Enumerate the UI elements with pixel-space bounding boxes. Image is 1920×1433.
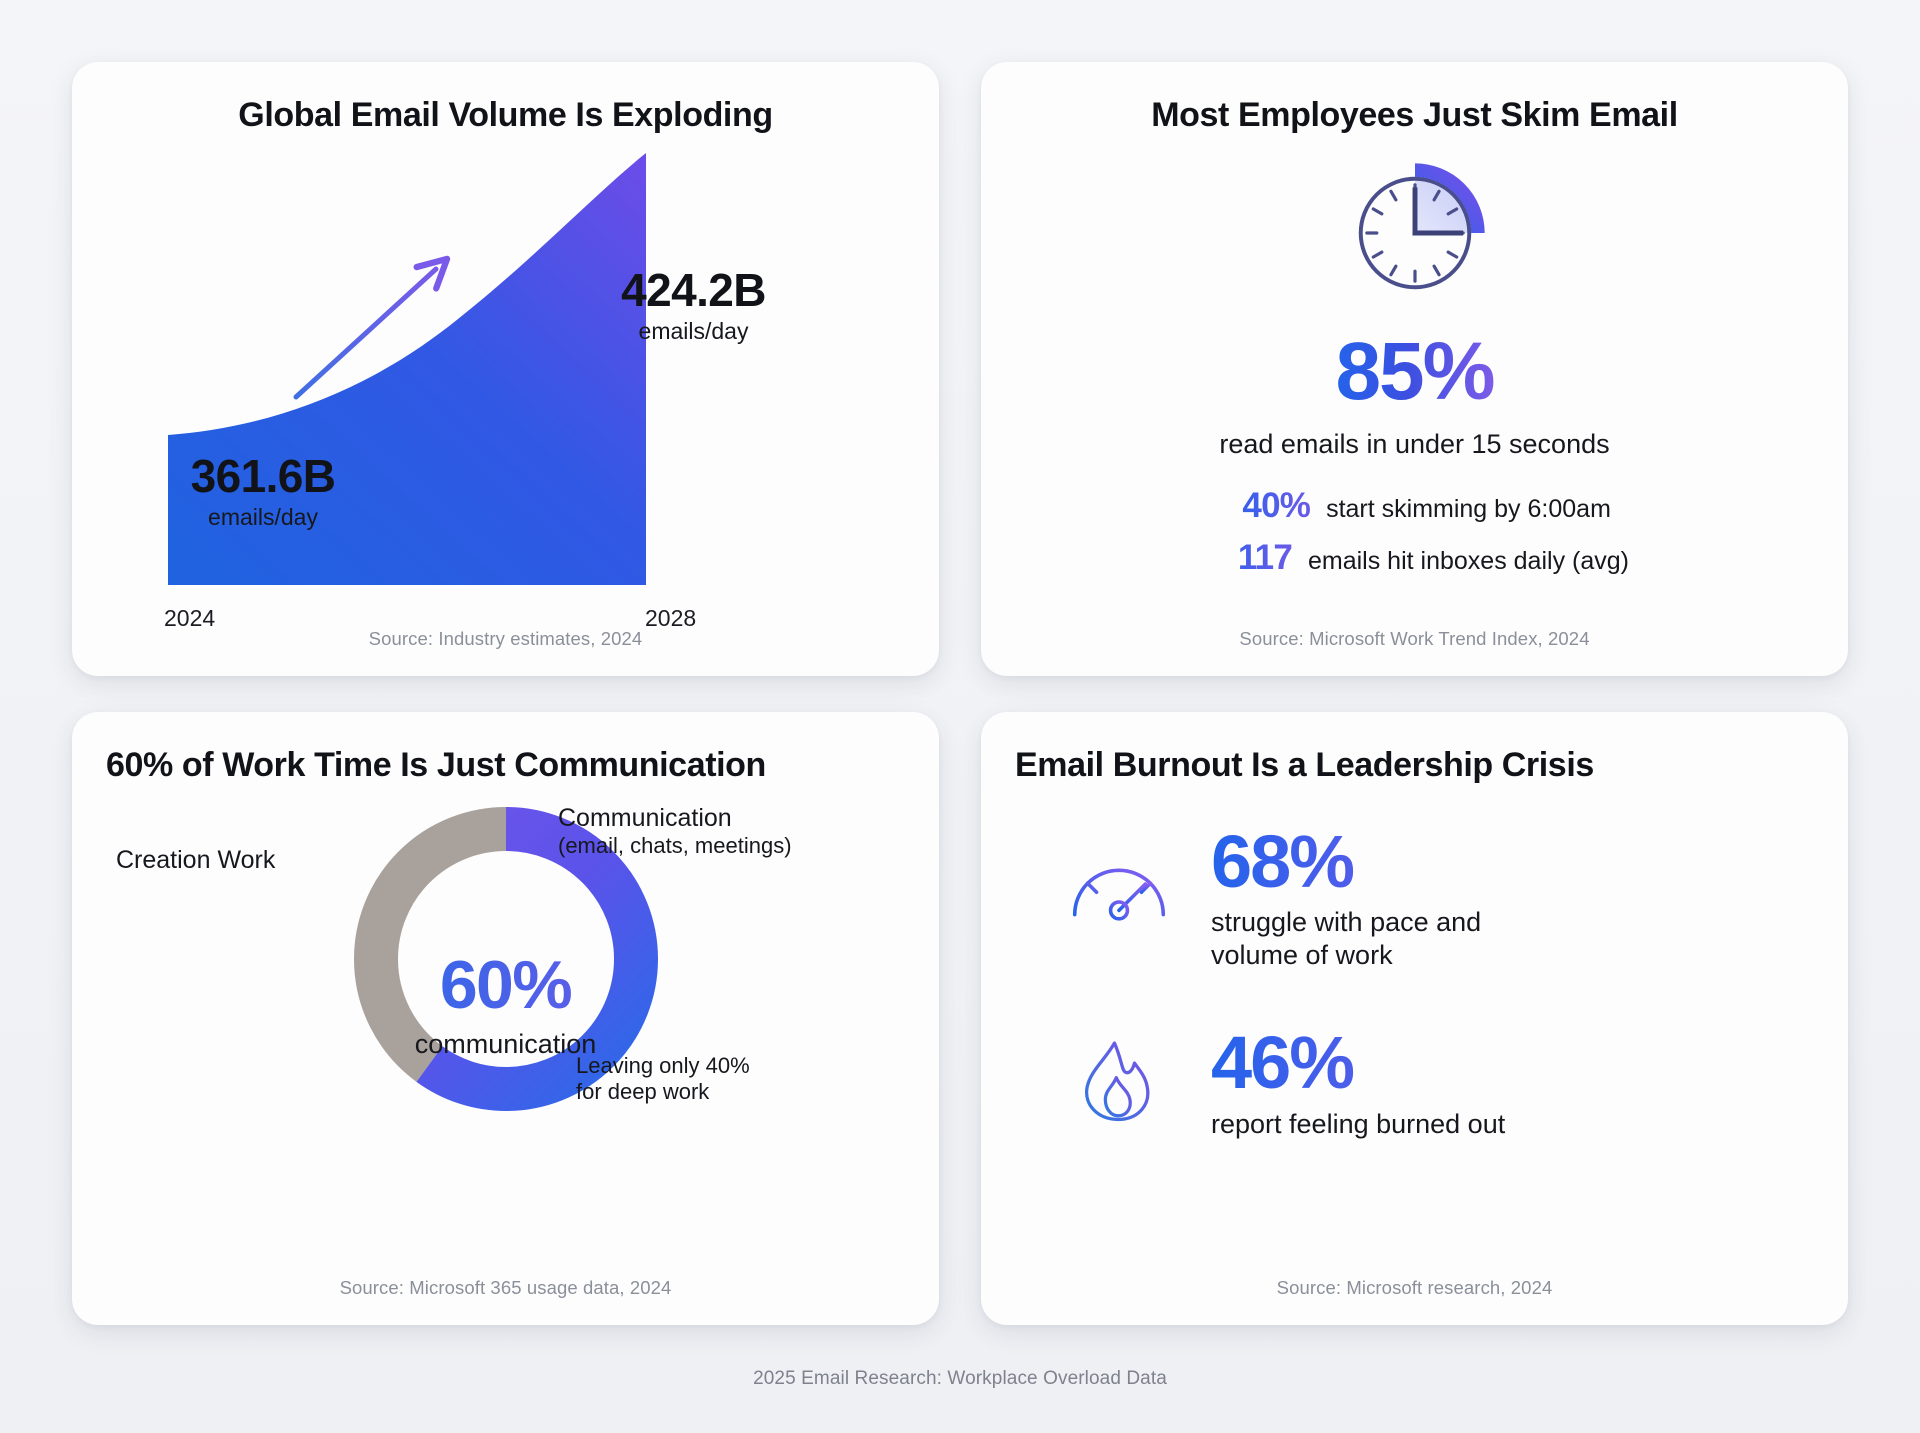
stat-caption-line1: report feeling burned out	[1211, 1109, 1505, 1139]
page-title: Most Employees Just Skim Email	[1015, 96, 1814, 135]
gauge-icon	[1061, 833, 1177, 933]
list-item: 46% report feeling burned out	[1015, 1028, 1814, 1140]
legend-creation-work: Creation Work	[116, 845, 275, 876]
end-value: 424.2B	[621, 264, 766, 316]
stat-value: 46%	[1211, 1028, 1505, 1098]
card-email-burnout: Email Burnout Is a Leadership Crisis	[981, 712, 1848, 1326]
donut-chart-body: 60% communication Creation Work Communic…	[106, 785, 905, 1277]
stat-value: 68%	[1211, 827, 1481, 897]
stat-caption-line2: volume of work	[1211, 940, 1393, 970]
flame-icon	[1061, 1034, 1177, 1134]
annotation-deep-work-line2: for deep work	[576, 1079, 709, 1104]
stat-caption-line1: struggle with pace and	[1211, 907, 1481, 937]
stat-caption: struggle with pace and volume of work	[1211, 906, 1481, 972]
donut-center-label: 60% communication	[356, 951, 656, 1060]
start-value-label: 361.6B emails/day	[158, 453, 368, 529]
skim-stats-body: 85% read emails in under 15 seconds 40% …	[1015, 135, 1814, 627]
axis-tick-2024: 2024	[164, 605, 215, 632]
card-source: Source: Microsoft research, 2024	[1015, 1277, 1814, 1307]
card-source: Source: Industry estimates, 2024	[106, 628, 905, 658]
headline-percent: 85%	[1335, 331, 1493, 413]
end-value-label: 424.2B emails/day	[576, 267, 811, 343]
axis-tick-2028: 2028	[645, 605, 696, 632]
clock-icon	[1341, 159, 1489, 307]
card-grid: Global Email Volume Is Exploding	[72, 62, 1848, 1325]
annotation-deep-work: Leaving only 40% for deep work	[576, 1053, 750, 1107]
infographic-page: Global Email Volume Is Exploding	[0, 0, 1920, 1433]
card-communication-time: 60% of Work Time Is Just Communication	[72, 712, 939, 1326]
page-title: Email Burnout Is a Leadership Crisis	[1015, 746, 1814, 785]
stat-caption: report feeling burned out	[1211, 1108, 1505, 1141]
card-skim-email: Most Employees Just Skim Email	[981, 62, 1848, 676]
list-item: 40% start skimming by 6:00am	[1015, 486, 1814, 526]
start-value: 361.6B	[191, 450, 336, 502]
stat-text: emails hit inboxes daily (avg)	[1308, 547, 1629, 576]
card-source: Source: Microsoft Work Trend Index, 2024	[1015, 628, 1814, 658]
area-chart-body: 361.6B emails/day 424.2B emails/day 2024…	[106, 135, 905, 627]
stat-list: 40% start skimming by 6:00am 117 emails …	[1015, 486, 1814, 590]
page-title: 60% of Work Time Is Just Communication	[106, 746, 905, 785]
stat-value: 117	[1200, 538, 1292, 578]
list-item: 68% struggle with pace and volume of wor…	[1015, 827, 1814, 972]
page-title: Global Email Volume Is Exploding	[106, 96, 905, 135]
stat-text: start skimming by 6:00am	[1326, 495, 1611, 524]
legend-communication-sub: (email, chats, meetings)	[558, 833, 792, 860]
stat-value: 40%	[1218, 486, 1310, 526]
donut-percent: 60%	[356, 951, 656, 1019]
stat-block: 68% struggle with pace and volume of wor…	[1211, 827, 1481, 972]
page-footer: 2025 Email Research: Workplace Overload …	[72, 1325, 1848, 1433]
start-unit: emails/day	[158, 506, 368, 529]
card-source: Source: Microsoft 365 usage data, 2024	[106, 1277, 905, 1307]
legend-communication: Communication (email, chats, meetings)	[558, 803, 792, 860]
stat-block: 46% report feeling burned out	[1211, 1028, 1505, 1140]
legend-communication-main: Communication	[558, 804, 732, 832]
end-unit: emails/day	[576, 320, 811, 343]
annotation-deep-work-line1: Leaving only 40%	[576, 1053, 750, 1078]
area-chart: 361.6B emails/day 424.2B emails/day 2024…	[106, 135, 905, 627]
headline-caption: read emails in under 15 seconds	[1219, 429, 1609, 460]
burnout-stats-body: 68% struggle with pace and volume of wor…	[1015, 785, 1814, 1277]
list-item: 117 emails hit inboxes daily (avg)	[1015, 538, 1814, 578]
card-email-volume: Global Email Volume Is Exploding	[72, 62, 939, 676]
